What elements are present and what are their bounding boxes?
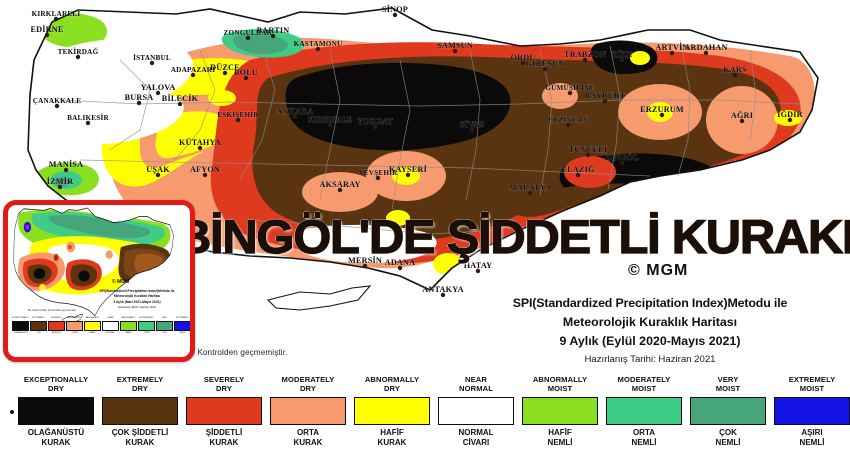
svg-text:ADANA: ADANA bbox=[385, 258, 416, 267]
map-caption: SPI(Standardized Precipitation Index)Met… bbox=[455, 294, 845, 368]
svg-text:SİVAS: SİVAS bbox=[460, 119, 484, 129]
inset-legend-item-9: EXTREMELYAŞIRI bbox=[174, 317, 191, 343]
legend-label-tr-0: OLAĞANÜSTÜKURAK bbox=[28, 428, 84, 448]
legend-bar: EXCEPTIONALLYDRYOLAĞANÜSTÜKURAKEXTREMELY… bbox=[0, 372, 850, 450]
legend-label-tr-4: HAFİFKURAK bbox=[378, 428, 407, 448]
svg-text:TUNCELİ: TUNCELİ bbox=[569, 144, 608, 154]
caption-line-3: 9 Aylık (Eylül 2020-Mayıs 2021) bbox=[455, 332, 845, 351]
svg-text:HATAY: HATAY bbox=[464, 261, 493, 270]
drought-map: KIRKLARELİEDİRNETEKİRDAĞİSTANBULÇANAKKAL… bbox=[0, 0, 850, 372]
mgm-watermark: © MGM bbox=[628, 262, 688, 280]
svg-text:ÇANAKKALE: ÇANAKKALE bbox=[33, 97, 82, 105]
svg-text:BAYBURT: BAYBURT bbox=[585, 91, 626, 100]
svg-text:SİNOP: SİNOP bbox=[382, 4, 408, 14]
svg-text:KIRIKKALE: KIRIKKALE bbox=[308, 116, 352, 124]
svg-text:KIRKLARELİ: KIRKLARELİ bbox=[32, 8, 81, 18]
inset-mgm-watermark: © MGM bbox=[112, 279, 129, 285]
svg-text:AĞRI: AĞRI bbox=[731, 110, 753, 120]
legend-label-tr-2: ŞİDDETLİKURAK bbox=[206, 428, 242, 448]
screenshot-root: KIRKLARELİEDİRNETEKİRDAĞİSTANBULÇANAKKAL… bbox=[0, 0, 850, 450]
legend-swatch-6 bbox=[522, 397, 598, 425]
svg-text:ANTAKYA: ANTAKYA bbox=[422, 285, 463, 294]
caption-line-1: SPI(Standardized Precipitation Index)Met… bbox=[455, 294, 845, 313]
svg-text:YALOVA: YALOVA bbox=[141, 83, 176, 92]
legend-label-en-5: NEARNORMAL bbox=[459, 374, 493, 394]
inset-disclaimer: Bu Veriler Kalite Kontrolden geçmemiştir… bbox=[28, 309, 77, 312]
svg-text:MERSİN: MERSİN bbox=[348, 255, 382, 265]
svg-text:ERZİNCAN: ERZİNCAN bbox=[548, 114, 589, 124]
legend-swatch-9 bbox=[774, 397, 850, 425]
svg-text:AFYON: AFYON bbox=[190, 165, 220, 174]
legend-swatch-4 bbox=[354, 397, 430, 425]
legend-swatch-5 bbox=[438, 397, 514, 425]
inset-legend-item-5: NEARNORMAL bbox=[102, 317, 119, 343]
svg-text:UŞAK: UŞAK bbox=[146, 165, 170, 174]
svg-text:TRABZON: TRABZON bbox=[564, 50, 606, 59]
inset-map[interactable]: © MGM SPI(Standardized Precipitation Ind… bbox=[3, 200, 195, 362]
svg-text:BURSA: BURSA bbox=[125, 93, 154, 102]
legend-item-1: EXTREMELYDRYÇOK ŞİDDETLİKURAK bbox=[98, 374, 182, 448]
svg-text:KASTAMONU: KASTAMONU bbox=[294, 40, 343, 48]
svg-text:ELAZIĞ: ELAZIĞ bbox=[561, 164, 594, 174]
svg-text:IĞDIR: IĞDIR bbox=[777, 109, 803, 119]
svg-text:ESKİŞEHİR: ESKİŞEHİR bbox=[217, 109, 259, 119]
legend-swatch-3 bbox=[270, 397, 346, 425]
legend-label-tr-8: ÇOKNEMLİ bbox=[716, 428, 741, 448]
inset-legend-item-7: MODERATELYORTA bbox=[138, 317, 155, 343]
legend-label-en-7: MODERATELYMOIST bbox=[618, 374, 671, 394]
legend-swatch-2 bbox=[186, 397, 262, 425]
cyprus-outline bbox=[268, 286, 370, 310]
legend-swatch-0 bbox=[18, 397, 94, 425]
svg-text:BOLU: BOLU bbox=[234, 68, 258, 77]
svg-text:YOZGAT: YOZGAT bbox=[357, 117, 393, 126]
legend-label-en-8: VERYMOIST bbox=[716, 374, 741, 394]
legend-item-3: MODERATELYDRYORTAKURAK bbox=[266, 374, 350, 448]
legend-label-tr-5: NORMALCİVARI bbox=[458, 428, 493, 448]
svg-text:TEKİRDAĞ: TEKİRDAĞ bbox=[58, 46, 99, 56]
svg-text:SAMSUN: SAMSUN bbox=[437, 41, 473, 50]
legend-label-en-6: ABNORMALLYMOIST bbox=[533, 374, 587, 394]
svg-text:EDİRNE: EDİRNE bbox=[30, 24, 63, 34]
legend-item-2: SEVERELYDRYŞİDDETLİKURAK bbox=[182, 374, 266, 448]
legend-items: EXCEPTIONALLYDRYOLAĞANÜSTÜKURAKEXTREMELY… bbox=[14, 374, 850, 448]
inset-caption: SPI(Standardized Precipitation Index)Met… bbox=[94, 289, 180, 311]
inset-legend: EXCEPTIONALLYOLAĞANÜSTÜEXTREMELYÇOKSEVER… bbox=[12, 317, 176, 343]
legend-label-tr-1: ÇOK ŞİDDETLİKURAK bbox=[112, 428, 168, 448]
legend-item-8: VERYMOISTÇOKNEMLİ bbox=[686, 374, 770, 448]
svg-text:ERZURUM: ERZURUM bbox=[640, 105, 684, 114]
svg-text:ADAPAZARI: ADAPAZARI bbox=[171, 66, 215, 74]
legend-label-en-4: ABNORMALLYDRY bbox=[365, 374, 419, 394]
svg-text:BİNGÖL: BİNGÖL bbox=[605, 152, 639, 162]
legend-item-9: EXTREMELYMOISTAŞIRINEMLİ bbox=[770, 374, 850, 448]
inset-legend-item-4: ABNORMALLYHAFİF bbox=[84, 317, 101, 343]
legend-label-en-1: EXTREMELYDRY bbox=[117, 374, 164, 394]
svg-text:AKSARAY: AKSARAY bbox=[319, 180, 360, 189]
svg-text:GİRESUN: GİRESUN bbox=[526, 58, 565, 68]
inset-legend-item-3: MODERATELYORTA bbox=[66, 317, 83, 343]
legend-swatch-1 bbox=[102, 397, 178, 425]
inset-legend-item-1: EXTREMELYÇOK bbox=[30, 317, 47, 343]
legend-label-tr-3: ORTAKURAK bbox=[294, 428, 323, 448]
inset-legend-item-8: VERYÇOK bbox=[156, 317, 173, 343]
svg-text:ARDAHAN: ARDAHAN bbox=[684, 43, 727, 52]
svg-text:BİLECİK: BİLECİK bbox=[162, 93, 199, 103]
legend-label-tr-6: HAFİFNEMLİ bbox=[548, 428, 573, 448]
svg-text:BALIKESİR: BALIKESİR bbox=[67, 112, 109, 122]
legend-label-en-0: EXCEPTIONALLYDRY bbox=[24, 374, 88, 394]
legend-label-tr-9: AŞIRINEMLİ bbox=[800, 428, 825, 448]
legend-item-0: EXCEPTIONALLYDRYOLAĞANÜSTÜKURAK bbox=[14, 374, 98, 448]
svg-text:İZMİR: İZMİR bbox=[47, 176, 73, 186]
legend-swatch-8 bbox=[690, 397, 766, 425]
svg-text:ANKARA: ANKARA bbox=[276, 107, 313, 116]
caption-line-4: Hazırlanış Tarihi: Haziran 2021 bbox=[455, 351, 845, 368]
svg-text:MANİSA: MANİSA bbox=[49, 159, 83, 169]
svg-text:BARTIN: BARTIN bbox=[257, 26, 290, 35]
caption-line-2: Meteorolojik Kuraklık Haritası bbox=[455, 313, 845, 332]
inset-legend-item-10: EXCEPTIONALLYOLAĞANÜSTÜ bbox=[192, 317, 195, 343]
legend-label-tr-7: ORTANEMLİ bbox=[632, 428, 657, 448]
inset-legend-item-2: SEVERELYŞİDDETLİ bbox=[48, 317, 65, 343]
legend-item-4: ABNORMALLYDRYHAFİFKURAK bbox=[350, 374, 434, 448]
legend-label-en-2: SEVERELYDRY bbox=[204, 374, 245, 394]
svg-text:KAYSERİ: KAYSERİ bbox=[389, 164, 427, 174]
svg-text:İSTANBUL: İSTANBUL bbox=[133, 52, 171, 62]
legend-label-en-3: MODERATELYDRY bbox=[282, 374, 335, 394]
inset-legend-item-6: ABNORMALLYHAFİF bbox=[120, 317, 137, 343]
legend-label-en-9: EXTREMELYMOIST bbox=[789, 374, 836, 394]
legend-swatch-7 bbox=[606, 397, 682, 425]
city-hatay: HATAY bbox=[464, 261, 493, 273]
svg-text:KÜTAHYA: KÜTAHYA bbox=[179, 138, 221, 147]
inset-legend-item-0: EXCEPTIONALLYOLAĞANÜSTÜ bbox=[12, 317, 29, 343]
inset-caption-line-4: Hazırlanış Tarihi: Haziran 2021 bbox=[94, 305, 180, 310]
legend-item-6: ABNORMALLYMOISTHAFİFNEMLİ bbox=[518, 374, 602, 448]
svg-text:KARS: KARS bbox=[723, 65, 747, 74]
svg-text:MALATYA: MALATYA bbox=[509, 183, 551, 192]
svg-text:RİZE: RİZE bbox=[612, 49, 633, 59]
legend-item-5: NEARNORMALNORMALCİVARI bbox=[434, 374, 518, 448]
legend-item-7: MODERATELYMOISTORTANEMLİ bbox=[602, 374, 686, 448]
